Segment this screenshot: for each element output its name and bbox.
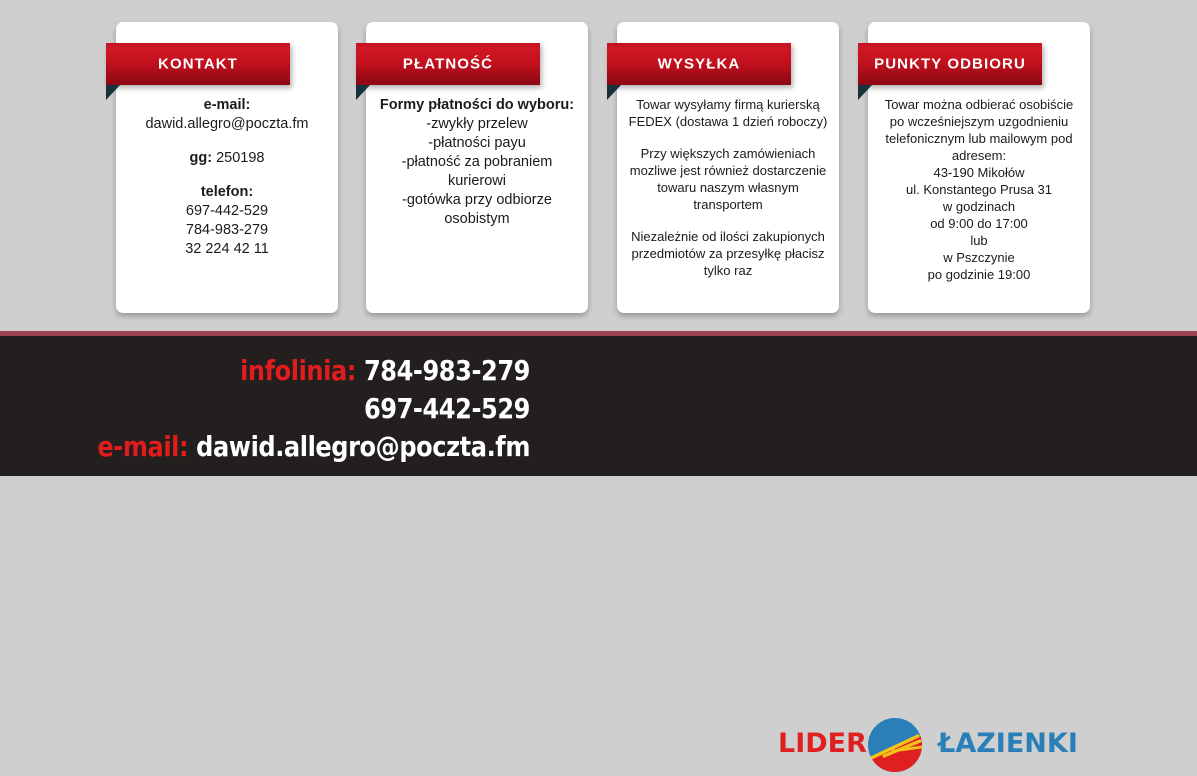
banner-fold-triangle <box>106 85 120 100</box>
card-platnosc: PŁATNOŚĆ Formy płatności do wyboru: -zwy… <box>366 22 588 313</box>
card-banner-punkty-odbioru: PUNKTY ODBIORU <box>858 43 1042 85</box>
kontakt-email-value: dawid.allegro@poczta.fm <box>124 115 330 134</box>
card-banner-label: PUNKTY ODBIORU <box>858 56 1042 73</box>
wysylka-paragraph-2: Przy większych zamówieniach mozliwe jest… <box>625 145 831 213</box>
split-circle-mark-icon <box>866 716 924 774</box>
punkty-street: ul. Konstantego Prusa 31 <box>876 181 1082 198</box>
card-punkty-odbioru: PUNKTY ODBIORU Towar można odbierać osob… <box>868 22 1090 313</box>
kontakt-gg-line: gg: 250198 <box>124 149 330 168</box>
kontakt-gg-label: gg: <box>190 150 213 166</box>
banner-fold-triangle <box>858 85 872 100</box>
banner-fold-triangle <box>356 85 370 100</box>
punkty-or: lub <box>876 232 1082 249</box>
footer-email-value: dawid.allegro@poczta.fm <box>196 430 530 463</box>
punkty-hours-label: w godzinach <box>876 198 1082 215</box>
punkty-intro: Towar można odbierać osobiście po wcześn… <box>876 96 1082 164</box>
platnosc-heading: Formy płatności do wyboru: <box>374 96 580 115</box>
footer-bar: infolinia: 784-983-279 697-442-529 e-mai… <box>0 336 1197 476</box>
info-cards-strip: KONTAKT e-mail: dawid.allegro@poczta.fm … <box>0 0 1197 332</box>
footer-infolinia-line-1: infolinia: 784-983-279 <box>74 352 530 390</box>
footer-email-label: e-mail: <box>97 430 188 463</box>
platnosc-option-4: -gotówka przy odbiorze osobistym <box>374 191 580 229</box>
kontakt-phone-3: 32 224 42 11 <box>124 240 330 259</box>
logo-word-lazienki: ŁAZIENKI <box>938 728 1078 760</box>
logo-word-lider: LIDER <box>778 728 867 760</box>
footer-contact-block: infolinia: 784-983-279 697-442-529 e-mai… <box>0 352 620 466</box>
footer-infolinia-label: infolinia: <box>240 354 356 387</box>
card-banner-platnosc: PŁATNOŚĆ <box>356 43 540 85</box>
kontakt-phone-1: 697-442-529 <box>124 202 330 221</box>
card-body-wysylka: Towar wysyłamy firmą kurierską FEDEX (do… <box>625 96 831 279</box>
card-wysylka: WYSYŁKA Towar wysyłamy firmą kurierską F… <box>617 22 839 313</box>
footer-email-line: e-mail: dawid.allegro@poczta.fm <box>74 428 530 466</box>
punkty-city-2: w Pszczynie <box>876 249 1082 266</box>
platnosc-option-2: -płatności payu <box>374 134 580 153</box>
card-kontakt: KONTAKT e-mail: dawid.allegro@poczta.fm … <box>116 22 338 313</box>
kontakt-gg-value: 250198 <box>212 150 264 166</box>
footer-infolinia-phone-2: 697-442-529 <box>364 392 530 425</box>
card-banner-label: PŁATNOŚĆ <box>356 56 540 73</box>
kontakt-phone-2: 784-983-279 <box>124 221 330 240</box>
punkty-hours-2: po godzinie 19:00 <box>876 266 1082 283</box>
platnosc-option-1: -zwykły przelew <box>374 115 580 134</box>
kontakt-phone-label: telefon: <box>124 183 330 202</box>
wysylka-paragraph-1: Towar wysyłamy firmą kurierską FEDEX (do… <box>625 96 831 130</box>
wysylka-paragraph-3: Niezależnie od ilości zakupionych przedm… <box>625 228 831 279</box>
card-banner-label: WYSYŁKA <box>607 56 791 73</box>
brand-logo: LIDER ŁAZIENKI <box>778 714 1090 776</box>
card-banner-label: KONTAKT <box>106 56 290 73</box>
card-banner-kontakt: KONTAKT <box>106 43 290 85</box>
punkty-hours-value: od 9:00 do 17:00 <box>876 215 1082 232</box>
footer-infolinia-phone-1: 784-983-279 <box>364 354 530 387</box>
card-body-kontakt: e-mail: dawid.allegro@poczta.fm gg: 2501… <box>124 96 330 259</box>
card-banner-wysylka: WYSYŁKA <box>607 43 791 85</box>
card-body-punkty-odbioru: Towar można odbierać osobiście po wcześn… <box>876 96 1082 283</box>
punkty-postcode-city: 43-190 Mikołów <box>876 164 1082 181</box>
platnosc-option-3: -płatność za pobraniem kurierowi <box>374 153 580 191</box>
card-body-platnosc: Formy płatności do wyboru: -zwykły przel… <box>374 96 580 229</box>
footer-infolinia-line-2: 697-442-529 <box>74 390 530 428</box>
kontakt-email-label: e-mail: <box>124 96 330 115</box>
banner-fold-triangle <box>607 85 621 100</box>
